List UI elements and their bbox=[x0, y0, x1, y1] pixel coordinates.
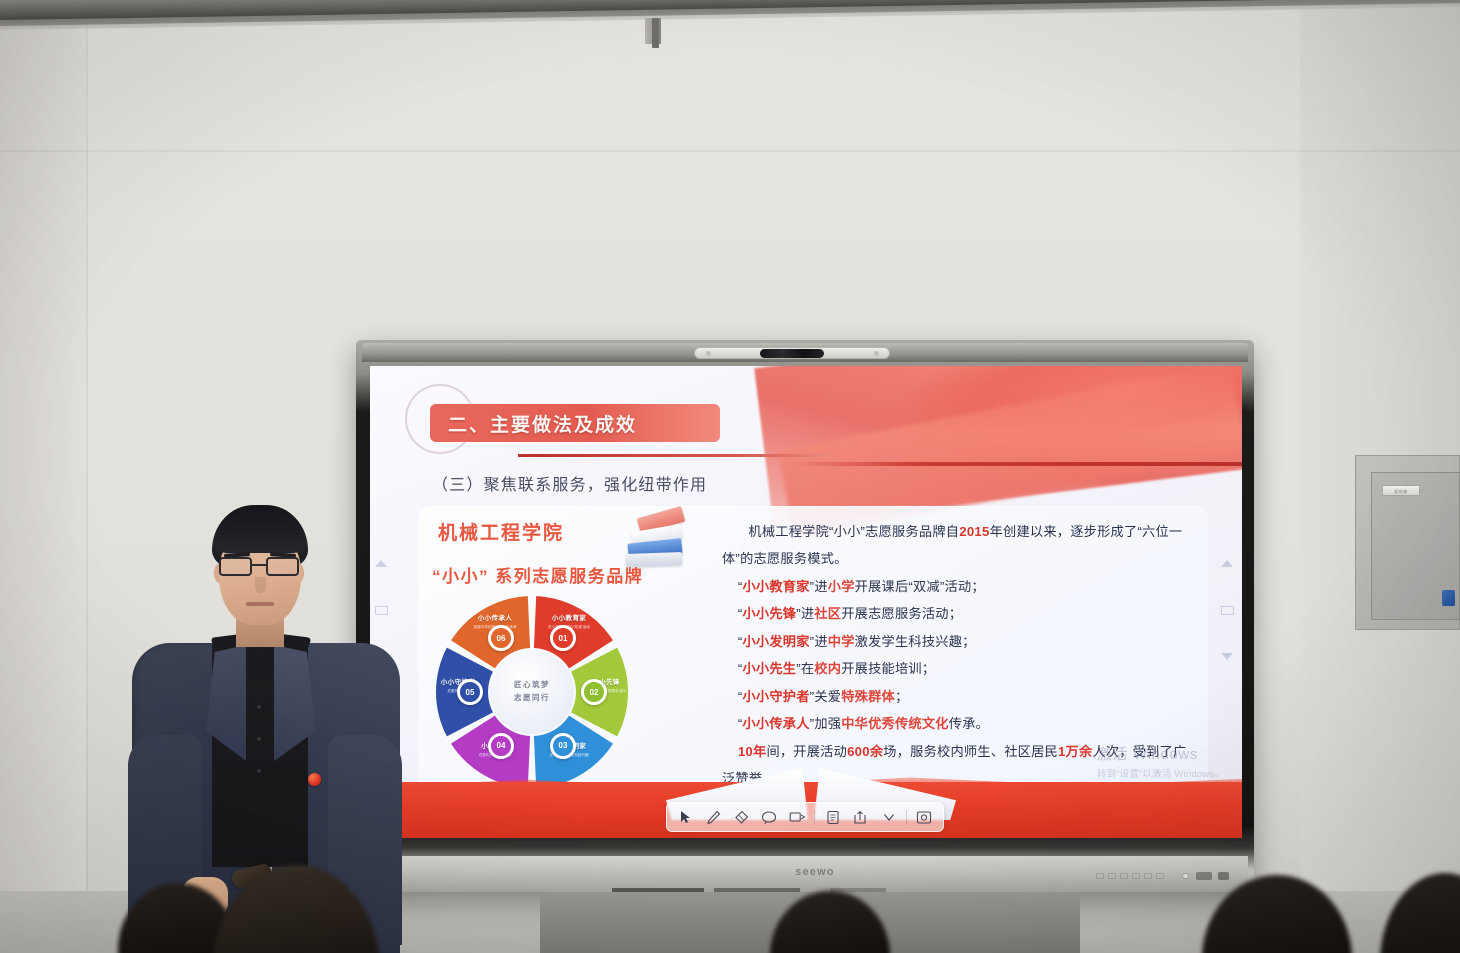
body-line-1: “小小教育家”进小学开展课后“双减”活动； bbox=[722, 573, 1196, 600]
line-2-mid: ”进 bbox=[796, 606, 814, 621]
wheel-segment-label-06: 小小传承人 bbox=[467, 612, 523, 622]
para1-part-a: 机械工程学院“小小”志愿服务品牌自 bbox=[748, 524, 959, 539]
line-2-key: 社区 bbox=[814, 606, 841, 621]
hair-front bbox=[213, 519, 307, 553]
title-underline bbox=[518, 454, 828, 457]
line-5-post: ； bbox=[895, 689, 908, 704]
cursor-icon[interactable] bbox=[672, 805, 699, 829]
share-icon[interactable] bbox=[847, 805, 874, 829]
microphone-icon-left bbox=[706, 351, 711, 356]
body-line-5: “小小守护者”关爱特殊群体； bbox=[722, 683, 1196, 710]
nose bbox=[255, 577, 266, 593]
wall-panel-nameplate: 配电箱 bbox=[1382, 485, 1420, 496]
line-6-post: 传承。 bbox=[949, 716, 989, 731]
summary-years: 10年 bbox=[738, 744, 767, 759]
wall-seam-vertical bbox=[86, 0, 88, 953]
slide-section-title: 二、主要做法及成效 bbox=[430, 404, 720, 442]
line-6-brand: 小小传承人 bbox=[742, 716, 809, 731]
line-5-key: 特殊群体 bbox=[841, 689, 895, 704]
line-1-brand: 小小教育家 bbox=[742, 579, 809, 594]
stacked-books-icon bbox=[622, 510, 692, 568]
wheel-hub-line2: 志愿同行 bbox=[514, 692, 550, 705]
line-3-mid: ”进 bbox=[810, 634, 828, 649]
wall-left-section bbox=[0, 0, 86, 953]
mouth bbox=[246, 602, 274, 606]
line-4-post: 开展技能培训； bbox=[841, 661, 935, 676]
annotation-toolbar[interactable] bbox=[666, 802, 944, 832]
slide-canvas: 二、主要做法及成效 （三）聚焦联系服务，强化纽带作用 机械工程学院 “小小” 系… bbox=[370, 366, 1242, 838]
microphone-icon-right bbox=[874, 351, 879, 356]
display-edge-buttons-right[interactable] bbox=[1218, 560, 1236, 660]
chevron-down-icon[interactable] bbox=[875, 805, 902, 829]
line-3-brand: 小小发明家 bbox=[742, 634, 809, 649]
display-screen[interactable]: 二、主要做法及成效 （三）聚焦联系服务，强化纽带作用 机械工程学院 “小小” 系… bbox=[370, 366, 1242, 838]
wall-seam-horizontal bbox=[0, 150, 1460, 152]
slide-subtitle: （三）聚焦联系服务，强化纽带作用 bbox=[432, 471, 707, 495]
line-4-key: 校内 bbox=[814, 661, 841, 676]
party-emblem-pin-icon bbox=[308, 773, 321, 786]
line-4-brand: 小小先生 bbox=[742, 661, 796, 676]
line-5-mid: ”关爱 bbox=[810, 689, 842, 704]
display-port-row bbox=[1096, 872, 1174, 880]
summary-people: 1万余 bbox=[1058, 744, 1092, 759]
chevron-up-icon-right[interactable] bbox=[1221, 560, 1233, 567]
glasses-icon bbox=[218, 557, 302, 577]
line-3-key: 中学 bbox=[828, 634, 855, 649]
line-3-post: 激发学生科技兴趣； bbox=[855, 634, 976, 649]
body-line-2: “小小先锋”进社区开展志愿服务活动； bbox=[722, 600, 1196, 627]
toolbar-divider-2 bbox=[906, 810, 907, 825]
eraser-icon[interactable] bbox=[728, 805, 755, 829]
chevron-down-icon-right[interactable] bbox=[1221, 653, 1233, 660]
pen-icon[interactable] bbox=[700, 805, 727, 829]
display-brand-logo: seewo bbox=[775, 866, 855, 880]
ir-sensor-icon bbox=[1196, 872, 1212, 880]
toolbar-divider bbox=[814, 810, 815, 825]
body-paragraph-1: 机械工程学院“小小”志愿服务品牌自2015年创建以来，逐步形成了“六位一体”的志… bbox=[722, 518, 1196, 573]
line-6-key: 中华优秀传统文化 bbox=[841, 716, 949, 731]
summary-d: 场，服务校内师生、社区居民 bbox=[883, 744, 1058, 759]
wheel-segment-label-01: 小小教育家 bbox=[541, 612, 597, 622]
para1-year: 2015 bbox=[959, 524, 989, 539]
sensor-icon-secondary bbox=[1218, 872, 1229, 880]
wheel-badge-04: 04 bbox=[488, 733, 514, 759]
watermark-line1: 激活 Windows bbox=[1097, 743, 1224, 764]
wheel-badge-05: 05 bbox=[457, 679, 483, 705]
watermark-line2: 转到“设置”以激活 Windows。 bbox=[1097, 766, 1224, 780]
line-1-post: 开展课后“双减”活动； bbox=[855, 579, 985, 594]
slide-section-title-text: 二、主要做法及成效 bbox=[448, 410, 637, 437]
ribbon-accent-line bbox=[792, 462, 1242, 466]
line-1-mid: ”进 bbox=[810, 579, 828, 594]
shape-icon[interactable] bbox=[784, 805, 811, 829]
wall-panel-lock-icon[interactable] bbox=[1442, 590, 1455, 606]
line-1-key: 小学 bbox=[828, 579, 855, 594]
line-5-brand: 小小守护者 bbox=[742, 689, 809, 704]
windows-activation-watermark: 激活 Windows 转到“设置”以激活 Windows。 bbox=[1097, 743, 1224, 780]
menu-icon-right[interactable] bbox=[1221, 606, 1234, 615]
ceiling-bracket-post-icon bbox=[652, 18, 659, 48]
camera-icon bbox=[760, 349, 824, 358]
wheel-badge-03: 03 bbox=[550, 733, 576, 759]
page-icon[interactable] bbox=[819, 805, 846, 829]
body-line-3: “小小发明家”进中学激发学生科技兴趣； bbox=[722, 628, 1196, 655]
line-2-brand: 小小先锋 bbox=[742, 606, 796, 621]
screenshot-root: 配电箱 二、主要做法及成效 （三）聚焦联系服务，强化纽带作用 机械工程学院 “小… bbox=[0, 0, 1460, 953]
summary-events: 600余 bbox=[847, 744, 883, 759]
line-2-post: 开展志愿服务活动； bbox=[841, 606, 962, 621]
wheel-hub-line1: 匠心筑梦 bbox=[514, 679, 550, 692]
line-6-mid: ”加强 bbox=[810, 716, 842, 731]
power-led-icon bbox=[1182, 873, 1189, 879]
wheel-hub: 匠心筑梦 志愿同行 bbox=[490, 650, 574, 734]
body-line-4: “小小先生”在校内开展技能培训； bbox=[722, 655, 1196, 682]
wheel-badge-02: 02 bbox=[581, 679, 607, 705]
body-line-6: “小小传承人”加强中华优秀传统文化传承。 bbox=[722, 710, 1196, 737]
summary-b: 间，开展活动 bbox=[766, 744, 847, 759]
six-in-one-wheel-diagram: 小小教育家进小学开展课后“双减”活动小小先锋进社区开展志愿服务活动小小发明家进中… bbox=[432, 594, 632, 790]
line-4-mid: ”在 bbox=[796, 661, 814, 676]
lasso-icon[interactable] bbox=[756, 805, 783, 829]
screenshot-icon[interactable] bbox=[911, 805, 938, 829]
